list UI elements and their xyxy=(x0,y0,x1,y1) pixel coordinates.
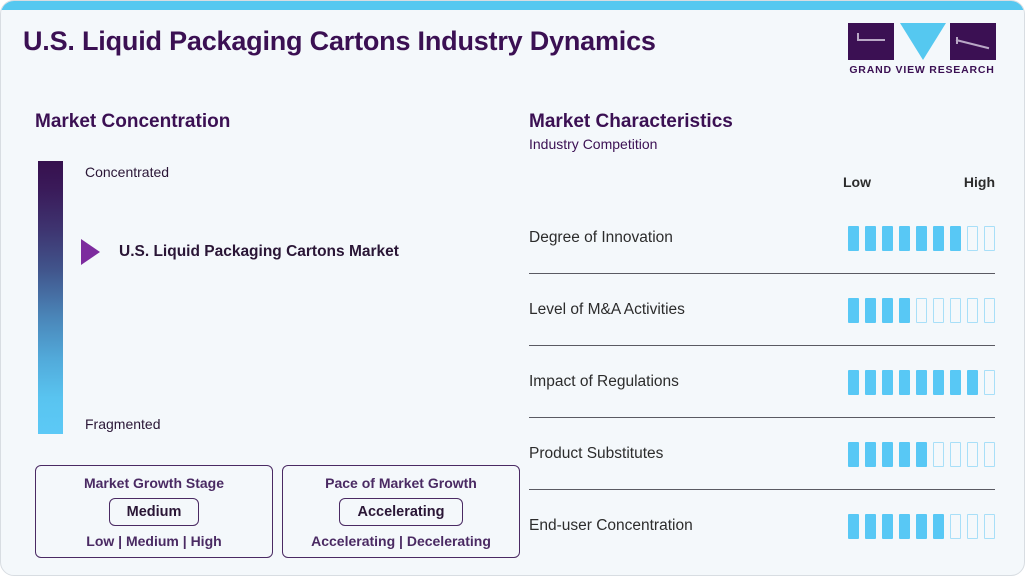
market-characteristics-panel: Market Characteristics Industry Competit… xyxy=(529,111,995,562)
rating-segment-filled xyxy=(865,298,876,323)
rating-segment-filled xyxy=(916,370,927,395)
rating-segment-empty xyxy=(950,298,961,323)
logo-square-left-icon xyxy=(848,23,894,60)
rating-segment-filled xyxy=(848,370,859,395)
rating-segment-empty xyxy=(950,442,961,467)
rating-bar-group xyxy=(848,298,995,323)
rating-segment-filled xyxy=(882,370,893,395)
rating-segment-filled xyxy=(848,514,859,539)
rating-segment-filled xyxy=(899,370,910,395)
rating-segment-filled xyxy=(882,514,893,539)
stat-boxes: Market Growth Stage Medium Low | Medium … xyxy=(35,465,520,558)
rating-segment-empty xyxy=(984,442,995,467)
characteristic-row: End-user Concentration xyxy=(529,490,995,562)
scale-label-fragmented: Fragmented xyxy=(85,416,160,432)
pace-of-market-growth-title: Pace of Market Growth xyxy=(297,475,505,491)
rating-segment-filled xyxy=(848,442,859,467)
rating-segment-filled xyxy=(933,226,944,251)
logo-wordmark: GRAND VIEW RESEARCH xyxy=(848,64,996,76)
rating-segment-filled xyxy=(933,370,944,395)
scale-label-concentrated: Concentrated xyxy=(85,164,169,180)
market-growth-stage-box: Market Growth Stage Medium Low | Medium … xyxy=(35,465,273,558)
rating-segment-filled xyxy=(882,226,893,251)
rating-segment-filled xyxy=(865,370,876,395)
rating-segment-filled xyxy=(899,514,910,539)
rating-segment-filled xyxy=(865,514,876,539)
market-growth-stage-value: Medium xyxy=(109,498,200,526)
characteristic-row: Impact of Regulations xyxy=(529,346,995,418)
rating-segment-empty xyxy=(933,442,944,467)
page-title: U.S. Liquid Packaging Cartons Industry D… xyxy=(23,26,656,57)
rating-bar-group xyxy=(848,226,995,251)
rating-bar-group xyxy=(848,514,995,539)
rating-segment-empty xyxy=(984,370,995,395)
rating-segment-filled xyxy=(916,442,927,467)
rating-segment-filled xyxy=(933,514,944,539)
characteristic-label: End-user Concentration xyxy=(529,517,848,535)
characteristics-rows: Degree of InnovationLevel of M&A Activit… xyxy=(529,202,995,562)
infographic-root: U.S. Liquid Packaging Cartons Industry D… xyxy=(0,0,1025,576)
rating-segment-empty xyxy=(967,514,978,539)
concentration-gradient-bar xyxy=(38,161,63,434)
market-concentration-panel: Market Concentration Concentrated Fragme… xyxy=(35,111,515,436)
rating-segment-empty xyxy=(967,226,978,251)
grand-view-research-logo: GRAND VIEW RESEARCH xyxy=(848,23,996,81)
rating-segment-filled xyxy=(967,370,978,395)
rating-scale-header: Low High xyxy=(529,174,995,196)
rating-segment-filled xyxy=(882,298,893,323)
concentration-scale: Concentrated Fragmented U.S. Liquid Pack… xyxy=(35,161,515,436)
rating-segment-filled xyxy=(899,226,910,251)
logo-triangle-icon xyxy=(900,23,946,60)
characteristic-label: Degree of Innovation xyxy=(529,229,848,247)
rating-segment-empty xyxy=(950,514,961,539)
rating-segment-filled xyxy=(916,514,927,539)
rating-segment-filled xyxy=(848,298,859,323)
rating-segment-empty xyxy=(984,298,995,323)
rating-segment-empty xyxy=(984,514,995,539)
characteristic-row: Degree of Innovation xyxy=(529,202,995,274)
pace-of-market-growth-value: Accelerating xyxy=(339,498,462,526)
rating-bar-group xyxy=(848,442,995,467)
rating-segment-empty xyxy=(967,298,978,323)
top-accent-bar xyxy=(1,1,1024,10)
rating-segment-filled xyxy=(899,442,910,467)
rating-segment-filled xyxy=(899,298,910,323)
rating-scale-high-label: High xyxy=(964,174,995,190)
rating-segment-filled xyxy=(950,370,961,395)
characteristic-row: Product Substitutes xyxy=(529,418,995,490)
logo-square-right-icon xyxy=(950,23,996,60)
rating-segment-empty xyxy=(984,226,995,251)
characteristic-label: Impact of Regulations xyxy=(529,373,848,391)
logo-marks xyxy=(848,23,996,60)
marker-label: U.S. Liquid Packaging Cartons Market xyxy=(119,243,399,261)
market-growth-stage-scale: Low | Medium | High xyxy=(50,533,258,549)
market-characteristics-heading: Market Characteristics xyxy=(529,111,995,133)
rating-segment-filled xyxy=(882,442,893,467)
characteristic-label: Level of M&A Activities xyxy=(529,301,848,319)
rating-segment-filled xyxy=(950,226,961,251)
rating-segment-filled xyxy=(865,226,876,251)
market-concentration-heading: Market Concentration xyxy=(35,111,515,133)
rating-bar-group xyxy=(848,370,995,395)
rating-segment-filled xyxy=(848,226,859,251)
pace-of-market-growth-scale: Accelerating | Decelerating xyxy=(297,533,505,549)
marker-arrow-icon xyxy=(81,239,100,265)
market-growth-stage-title: Market Growth Stage xyxy=(50,475,258,491)
rating-segment-empty xyxy=(933,298,944,323)
rating-segment-empty xyxy=(967,442,978,467)
rating-segment-filled xyxy=(916,226,927,251)
characteristic-row: Level of M&A Activities xyxy=(529,274,995,346)
rating-segment-empty xyxy=(916,298,927,323)
market-characteristics-subheading: Industry Competition xyxy=(529,136,995,152)
pace-of-market-growth-box: Pace of Market Growth Accelerating Accel… xyxy=(282,465,520,558)
rating-scale-low-label: Low xyxy=(843,174,871,190)
market-position-marker: U.S. Liquid Packaging Cartons Market xyxy=(81,239,399,265)
characteristic-label: Product Substitutes xyxy=(529,445,848,463)
header: U.S. Liquid Packaging Cartons Industry D… xyxy=(1,10,1024,88)
rating-segment-filled xyxy=(865,442,876,467)
